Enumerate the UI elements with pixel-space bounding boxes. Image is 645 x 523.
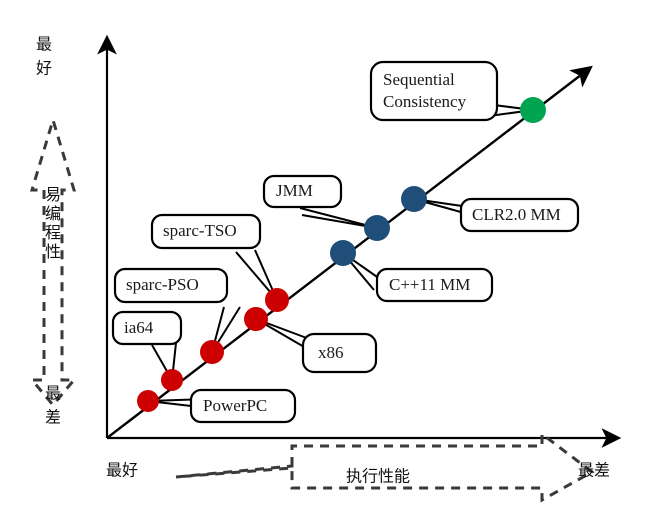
callout-powerpc[interactable]: PowerPC xyxy=(191,390,295,422)
x-axis-left-label: 最好 xyxy=(106,461,138,480)
callout-jmm[interactable]: JMM xyxy=(264,176,341,207)
data-point-seqcons[interactable] xyxy=(520,97,546,123)
data-point-jmm[interactable] xyxy=(364,215,390,241)
callout-sparc-tso[interactable]: sparc-TSO xyxy=(152,215,260,248)
data-point-x86[interactable] xyxy=(244,307,268,331)
callout-label-x86: x86 xyxy=(318,343,344,362)
callout-ia64[interactable]: ia64 xyxy=(113,312,181,344)
y-axis-bottom-label-ghost: 差 xyxy=(45,408,61,427)
callout-sparc-pso[interactable]: sparc-PSO xyxy=(115,269,227,302)
callout-seqcons[interactable]: Sequential Consistency xyxy=(371,62,497,120)
data-point-clr20[interactable] xyxy=(401,186,427,212)
x-axis-right-label: 最差 xyxy=(578,461,610,480)
callout-label-seqcons-line1: Sequential xyxy=(383,70,455,89)
callout-label-seqcons-line2: Consistency xyxy=(383,92,467,111)
diagram-canvas: Sequential Consistency CLR2.0 MM JMM C++… xyxy=(0,0,645,523)
y-axis-top-label: 最 xyxy=(36,35,52,54)
y-axis-top-label-ghost: 好 xyxy=(36,59,52,78)
callout-label-jmm: JMM xyxy=(276,181,313,200)
callout-clr20[interactable]: CLR2.0 MM xyxy=(461,199,578,231)
callout-label-powerpc: PowerPC xyxy=(203,396,267,415)
data-point-ia64[interactable] xyxy=(161,369,183,391)
data-point-sparc-pso[interactable] xyxy=(200,340,224,364)
memory-model-tradeoff-diagram: Sequential Consistency CLR2.0 MM JMM C++… xyxy=(0,0,645,523)
data-point-sparc-tso[interactable] xyxy=(265,288,289,312)
y-axis-title: 易编程性 xyxy=(45,185,61,261)
callout-label-ia64: ia64 xyxy=(124,318,154,337)
callout-label-sparc-tso: sparc-TSO xyxy=(163,221,237,240)
y-axis-dashed-arrow xyxy=(32,120,74,405)
data-point-cpp11[interactable] xyxy=(330,240,356,266)
callout-label-sparc-pso: sparc-PSO xyxy=(126,275,199,294)
callout-label-cpp11: C++11 MM xyxy=(389,275,470,294)
callout-cpp11[interactable]: C++11 MM xyxy=(377,269,492,301)
x-axis-title: 执行性能 xyxy=(346,467,410,486)
callout-x86[interactable]: x86 xyxy=(303,334,376,372)
y-axis-bottom-label: 最 xyxy=(45,384,61,403)
callout-label-clr20: CLR2.0 MM xyxy=(472,205,561,224)
data-point-powerpc[interactable] xyxy=(137,390,159,412)
